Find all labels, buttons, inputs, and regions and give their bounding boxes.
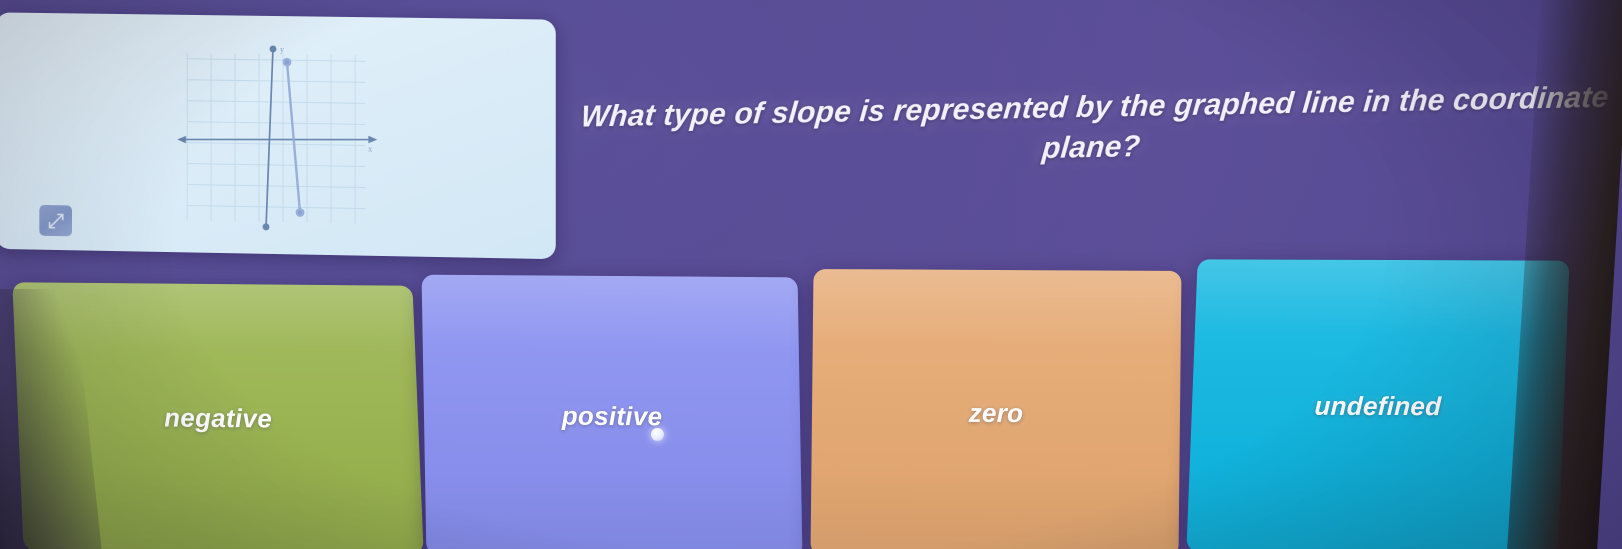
expand-image-icon[interactable]: [39, 205, 72, 236]
answer-options: negative positive zero undefined: [0, 252, 1622, 549]
question-image-card[interactable]: y x: [0, 12, 556, 259]
answer-label: negative: [163, 402, 272, 434]
answer-label: positive: [561, 400, 662, 432]
coordinate-plane-graph: y x: [169, 39, 389, 237]
answer-option-negative[interactable]: negative: [12, 282, 423, 549]
answer-option-zero[interactable]: zero: [811, 269, 1182, 549]
answer-option-undefined[interactable]: undefined: [1186, 259, 1569, 549]
quiz-screen: y x What type of slope is represented by…: [0, 0, 1622, 549]
svg-text:y: y: [280, 45, 284, 54]
touch-indicator: [651, 428, 664, 441]
answer-option-positive[interactable]: positive: [422, 275, 803, 549]
question-text: What type of slope is represented by the…: [565, 78, 1622, 177]
answer-label: undefined: [1314, 390, 1442, 421]
svg-text:x: x: [368, 144, 372, 153]
answer-label: zero: [968, 397, 1023, 428]
